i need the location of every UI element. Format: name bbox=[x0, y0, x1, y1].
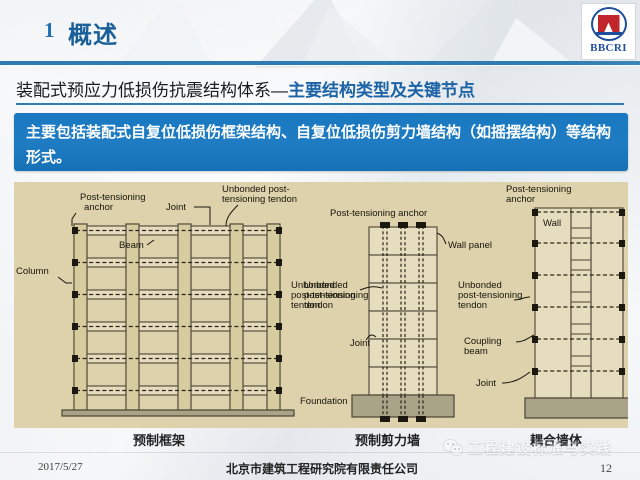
wall-label-pt-anchor: Post-tensioning anchor bbox=[330, 208, 427, 219]
slide: 1 概述 BBCRI 装配式预应力低损伤抗震结构体系—主要结构类型及关键节点 主… bbox=[0, 0, 640, 480]
structure-diagram: .ln { stroke:#4a4334; fill:none; } .pf {… bbox=[14, 182, 628, 428]
coupled-label-coupling-line2: beam bbox=[464, 346, 488, 357]
wechat-icon bbox=[444, 440, 463, 456]
slide-header: 1 概述 bbox=[0, 0, 640, 63]
footer-page-number: 12 bbox=[600, 461, 612, 476]
bbcri-logo: BBCRI bbox=[581, 3, 636, 60]
header-divider-highlight bbox=[0, 65, 640, 66]
logo-circle-icon bbox=[591, 7, 627, 41]
frame-label-unbonded-tendon-line2: tensioning tendon bbox=[222, 194, 297, 205]
frame-label-column: Column bbox=[16, 266, 49, 277]
caption-precast-shear-wall: 预制剪力墙 bbox=[355, 430, 420, 449]
footer-divider bbox=[0, 452, 640, 453]
coupled-label-pt-anchor-line2: anchor bbox=[506, 194, 535, 205]
footer-organization: 北京市建筑工程研究院有限责任公司 bbox=[226, 460, 418, 477]
logo-base-bar-icon bbox=[596, 32, 622, 35]
wall-label-joint: Joint bbox=[350, 338, 370, 349]
wall-label-foundation: Foundation bbox=[300, 396, 348, 407]
wechat-watermark: 工程建设标准与实践 bbox=[444, 437, 612, 458]
caption-precast-frame: 预制框架 bbox=[133, 430, 185, 449]
coupled-label-joint: Joint bbox=[476, 378, 496, 389]
wall-label-wall-panel: Wall panel bbox=[448, 240, 492, 251]
slide-subtitle: 装配式预应力低损伤抗震结构体系—主要结构类型及关键节点 bbox=[16, 72, 624, 104]
logo-m-shape-icon bbox=[598, 15, 620, 34]
frame-label-pt-anchor-line2: anchor bbox=[84, 202, 113, 213]
callout-box: 主要包括装配式自复位低损伤框架结构、自复位低损伤剪力墙结构（如摇摆结构）等结构形… bbox=[14, 113, 628, 171]
frame-label-beam: Beam bbox=[119, 240, 144, 251]
logo-text: BBCRI bbox=[590, 42, 627, 54]
page-title: 概述 bbox=[68, 15, 118, 50]
subtitle-underline bbox=[16, 103, 624, 105]
watermark-text: 工程建设标准与实践 bbox=[468, 437, 612, 458]
subtitle-plain: 装配式预应力低损伤抗震结构体系— bbox=[16, 76, 288, 101]
frame-label-joint: Joint bbox=[166, 202, 186, 213]
coupled-label-wall: Wall bbox=[543, 218, 561, 229]
wall-label-unbonded-line3: tendon bbox=[304, 300, 333, 311]
subtitle-highlight: 主要结构类型及关键节点 bbox=[288, 76, 475, 101]
footer-date: 2017/5/27 bbox=[38, 461, 83, 473]
coupled-label-unbonded-line3: tendon bbox=[458, 300, 487, 311]
section-number: 1 bbox=[44, 18, 55, 43]
